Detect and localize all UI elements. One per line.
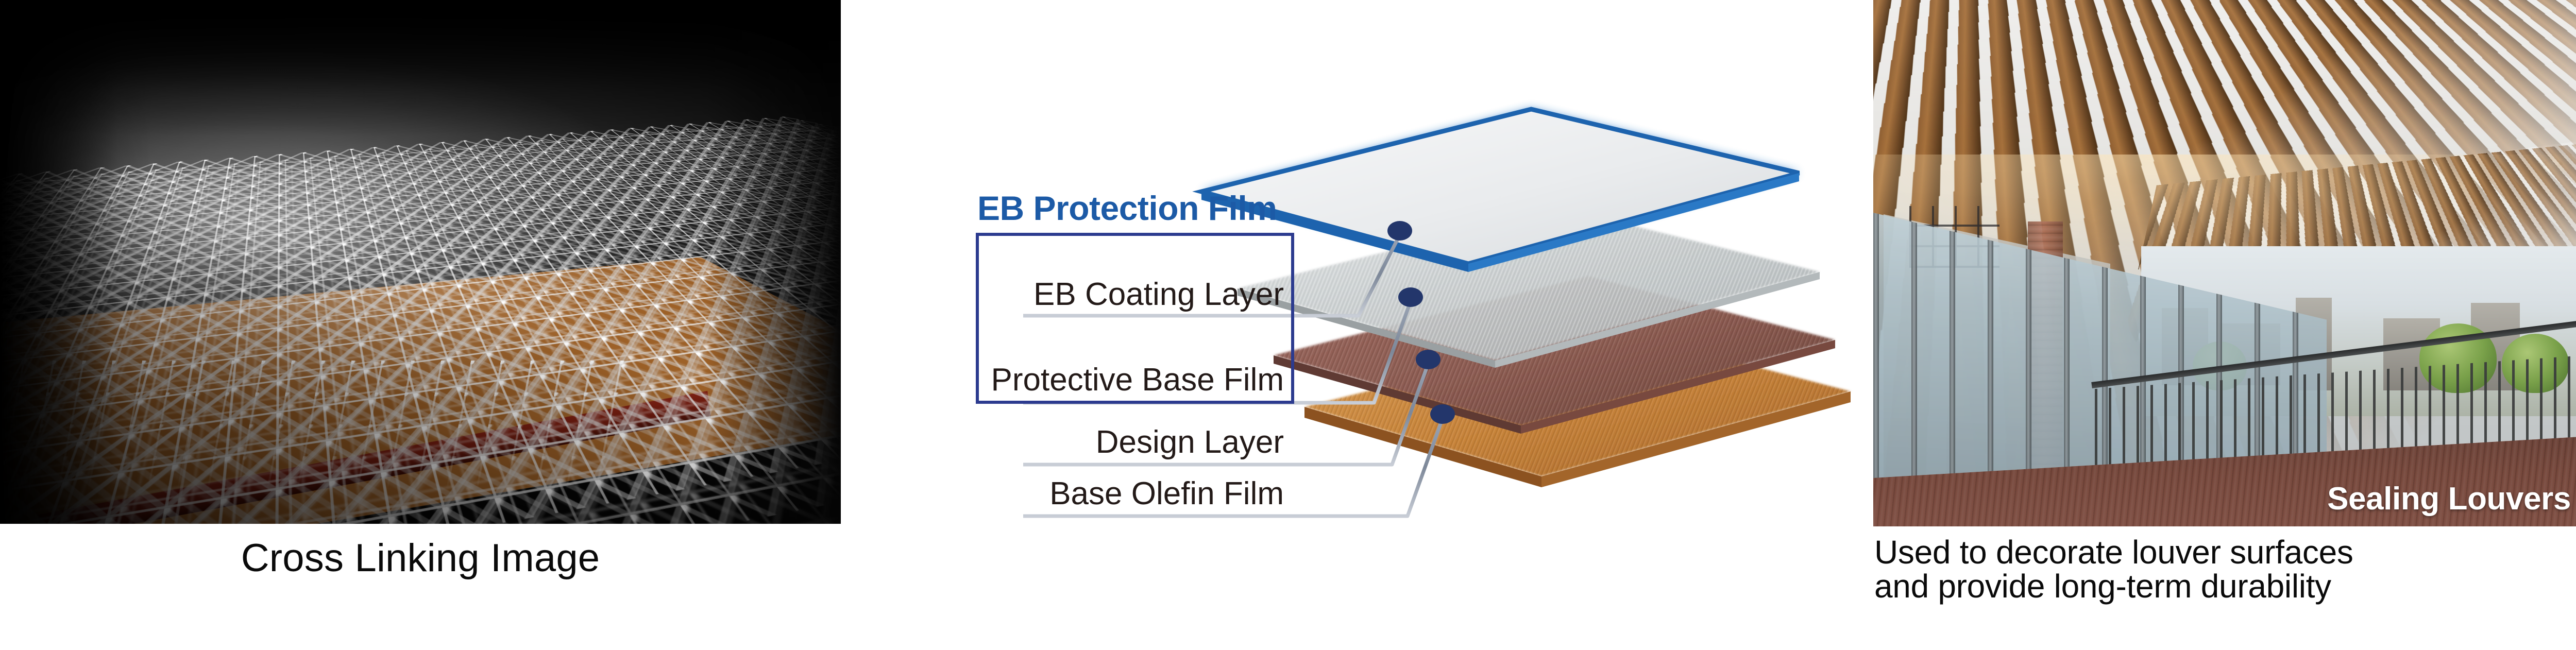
marker-protective-base-film [1398, 287, 1423, 307]
marker-base-olefin-film [1430, 404, 1455, 424]
layer-label-eb-coating-layer: EB Coating Layer [985, 276, 1284, 313]
marker-eb-coating-layer [1387, 221, 1412, 241]
cross-linking-caption: Cross Linking Image [0, 536, 841, 580]
sealing-louvers-caption: Used to decorate louver surfaces and pro… [1874, 536, 2576, 604]
cross-linking-panel: Cross Linking Image [0, 0, 841, 650]
marker-design-layer [1416, 350, 1440, 369]
sealing-louvers-overlay-label: Sealing Louvers [2327, 481, 2571, 517]
eb-protection-film-diagram: EB Protection Film EB Coating Layer Prot… [841, 0, 1873, 650]
sealing-louvers-panel: Sealing Louvers Used to decorate louver … [1873, 0, 2576, 650]
sealing-louvers-image: Sealing Louvers [1873, 0, 2576, 526]
background-vignette [0, 0, 841, 524]
layer-label-base-olefin-film: Base Olefin Film [970, 475, 1284, 512]
caption-line-2: and provide long-term durability [1874, 570, 2576, 604]
layer-label-design-layer: Design Layer [985, 424, 1284, 460]
cross-linking-image [0, 0, 841, 524]
caption-line-1: Used to decorate louver surfaces [1874, 536, 2576, 570]
layer-label-protective-base-film: Protective Base Film [964, 362, 1284, 398]
diagram-title: EB Protection Film [977, 189, 1277, 228]
